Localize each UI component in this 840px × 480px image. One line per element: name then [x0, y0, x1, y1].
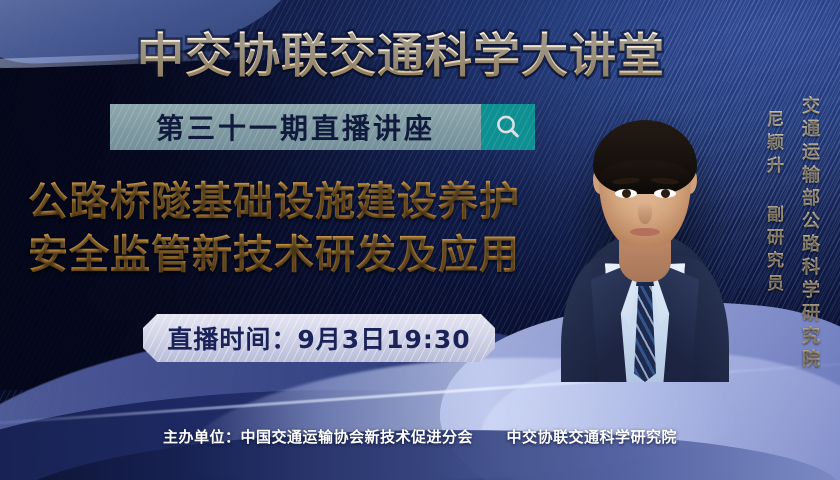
footer-organizer-secondary: 中交协联交通科学研究院: [506, 428, 677, 446]
search-icon: [494, 113, 522, 141]
portrait-eye-left: [615, 189, 637, 198]
speaker-portrait: [565, 82, 725, 382]
broadcast-time-text: 直播时间：9月3日19:30: [167, 320, 470, 356]
episode-search-bar[interactable]: 第三十一期直播讲座: [110, 104, 535, 150]
lecture-title-line2: 安全监管新技术研发及应用: [28, 229, 578, 282]
portrait-mouth: [630, 228, 660, 236]
lecture-title: 公路桥隧基础设施建设养护 安全监管新技术研发及应用: [28, 176, 578, 282]
live-lecture-poster: 中交协联交通科学大讲堂 中交协联交通科学大讲堂 第三十一期直播讲座 公路桥隧基础…: [0, 0, 840, 480]
search-button[interactable]: [481, 104, 535, 150]
footer-organizers: 主办单位：中国交通运输协会新技术促进分会 中交协联交通科学研究院: [0, 426, 840, 447]
main-title: 中交协联交通科学大讲堂: [118, 20, 684, 82]
footer-organizer-primary: 主办单位：中国交通运输协会新技术促进分会: [163, 428, 473, 446]
speaker-organization: 交通运输部公路科学研究院: [796, 96, 822, 372]
lecture-title-line1: 公路桥隧基础设施建设养护: [28, 176, 578, 229]
speaker-name-title: 尼颖升 副研究员: [761, 110, 786, 297]
episode-search-field[interactable]: 第三十一期直播讲座: [110, 104, 481, 150]
portrait-eye-right: [654, 189, 676, 198]
episode-label: 第三十一期直播讲座: [156, 107, 435, 147]
portrait-nose: [638, 202, 652, 224]
broadcast-time-badge: 直播时间：9月3日19:30: [143, 314, 495, 362]
